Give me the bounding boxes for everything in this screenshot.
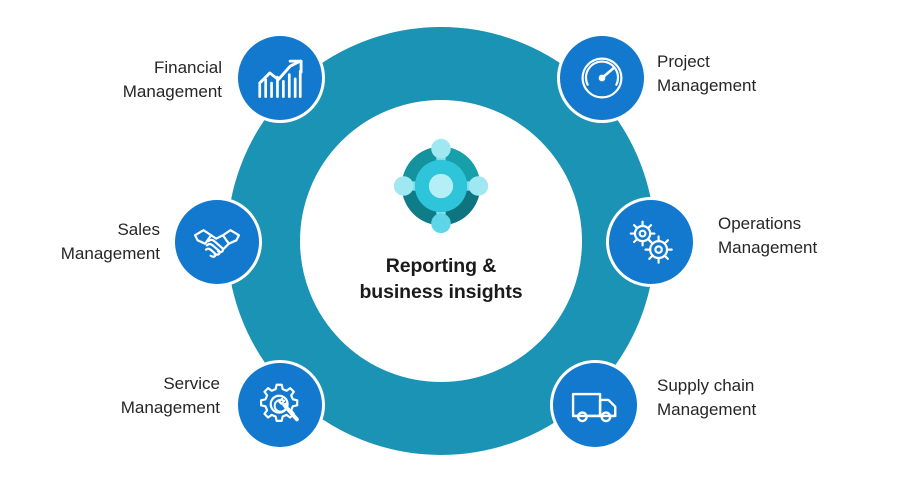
center-group: Reporting & business insights xyxy=(301,130,581,330)
delivery-truck-icon xyxy=(568,378,622,432)
gauge-speedometer-icon xyxy=(575,51,629,105)
node-financial-management[interactable] xyxy=(235,33,325,123)
label-project-management: Project Management xyxy=(657,50,887,98)
label-financial-management: Financial Management xyxy=(0,56,222,104)
bar-chart-growth-icon xyxy=(253,51,307,105)
node-circle-operations[interactable] xyxy=(606,197,696,287)
two-gears-icon xyxy=(624,215,678,269)
gear-wrench-icon xyxy=(253,378,307,432)
hub-network-icon xyxy=(385,130,497,242)
label-service-management: Service Management xyxy=(0,372,220,420)
label-sales-management: Sales Management xyxy=(0,218,160,266)
node-circle-service[interactable] xyxy=(235,360,325,450)
node-project-management[interactable] xyxy=(557,33,647,123)
label-operations-management: Operations Management xyxy=(718,212,908,260)
diagram-canvas: Reporting & business insights Financial … xyxy=(0,0,912,480)
label-supply-chain-management: Supply chain Management xyxy=(657,374,887,422)
node-operations-management[interactable] xyxy=(606,197,696,287)
node-circle-supply[interactable] xyxy=(550,360,640,450)
node-sales-management[interactable] xyxy=(172,197,262,287)
node-circle-project[interactable] xyxy=(557,33,647,123)
handshake-icon xyxy=(190,215,244,269)
node-supply-chain-management[interactable] xyxy=(550,360,640,450)
node-circle-financial[interactable] xyxy=(235,33,325,123)
center-label: Reporting & business insights xyxy=(359,254,522,305)
node-circle-sales[interactable] xyxy=(172,197,262,287)
node-service-management[interactable] xyxy=(235,360,325,450)
